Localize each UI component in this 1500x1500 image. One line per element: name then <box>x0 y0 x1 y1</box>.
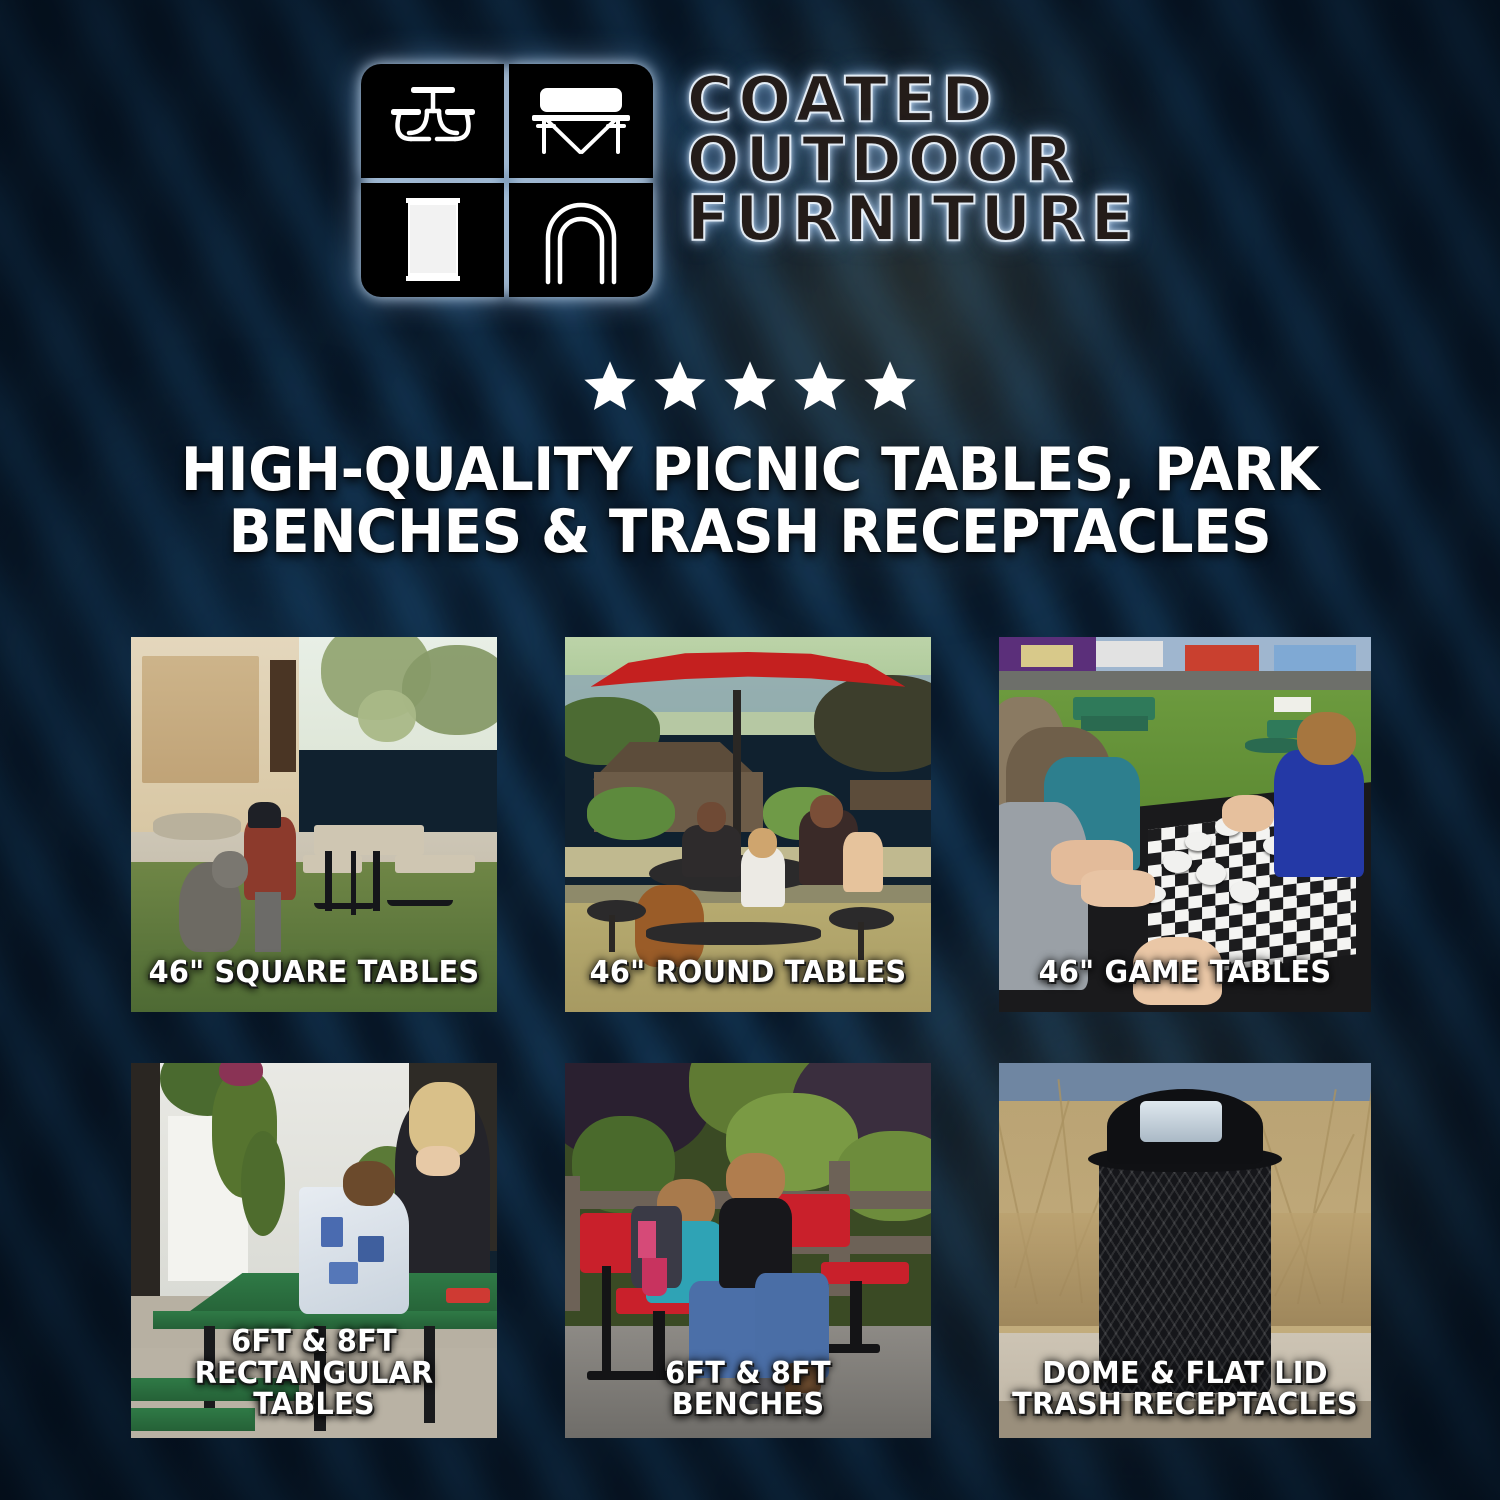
product-card-square-tables[interactable]: 46" SQUARE TABLES <box>131 637 497 1012</box>
logo-wordmark: COATED OUTDOOR FURNITURE <box>687 64 1139 249</box>
headline-line-2: BENCHES & TRASH RECEPTACLES <box>101 502 1398 564</box>
star-icon-4 <box>792 358 848 414</box>
product-caption-round-tables: 46" ROUND TABLES <box>572 957 923 988</box>
logo-icon-grid <box>361 64 653 297</box>
park-bench-icon <box>509 64 653 178</box>
product-caption-benches: 6FT & 8FT BENCHES <box>572 1358 923 1420</box>
logo-line-1: COATED <box>687 70 1139 130</box>
product-card-round-tables[interactable]: 46" ROUND TABLES <box>565 637 931 1012</box>
product-caption-game-tables: 46" GAME TABLES <box>1006 957 1363 988</box>
product-card-benches[interactable]: 6FT & 8FT BENCHES <box>565 1063 931 1438</box>
brand-logo: COATED OUTDOOR FURNITURE <box>0 64 1500 297</box>
star-icon-3 <box>722 358 778 414</box>
product-grid: 46" SQUARE TABLES <box>131 637 1372 1438</box>
product-card-game-tables[interactable]: 46" GAME TABLES <box>999 637 1371 1012</box>
product-caption-square-tables: 46" SQUARE TABLES <box>138 957 489 988</box>
logo-line-3: FURNITURE <box>687 189 1139 249</box>
product-card-trash-receptacles[interactable]: DOME & FLAT LID TRASH RECEPTACLES <box>999 1063 1371 1438</box>
product-card-rectangular-tables[interactable]: 6FT & 8FT RECTANGULAR TABLES <box>131 1063 497 1438</box>
picnic-table-icon <box>361 64 505 178</box>
page-title: HIGH-QUALITY PICNIC TABLES, PARK BENCHES… <box>45 440 1455 564</box>
star-icon-5 <box>862 358 918 414</box>
logo-line-2: OUTDOOR <box>687 130 1139 190</box>
headline-line-1: HIGH-QUALITY PICNIC TABLES, PARK <box>101 440 1398 502</box>
poster-content: COATED OUTDOOR FURNITURE HIGH-QUALITY PI… <box>0 0 1500 1500</box>
star-rating <box>0 358 1500 414</box>
trash-receptacle-icon <box>361 183 505 297</box>
star-icon-1 <box>582 358 638 414</box>
product-caption-trash-receptacles: DOME & FLAT LID TRASH RECEPTACLES <box>1006 1358 1363 1420</box>
star-icon-2 <box>652 358 708 414</box>
bike-rack-arch-icon <box>509 183 653 297</box>
product-caption-rectangular-tables: 6FT & 8FT RECTANGULAR TABLES <box>138 1326 489 1420</box>
